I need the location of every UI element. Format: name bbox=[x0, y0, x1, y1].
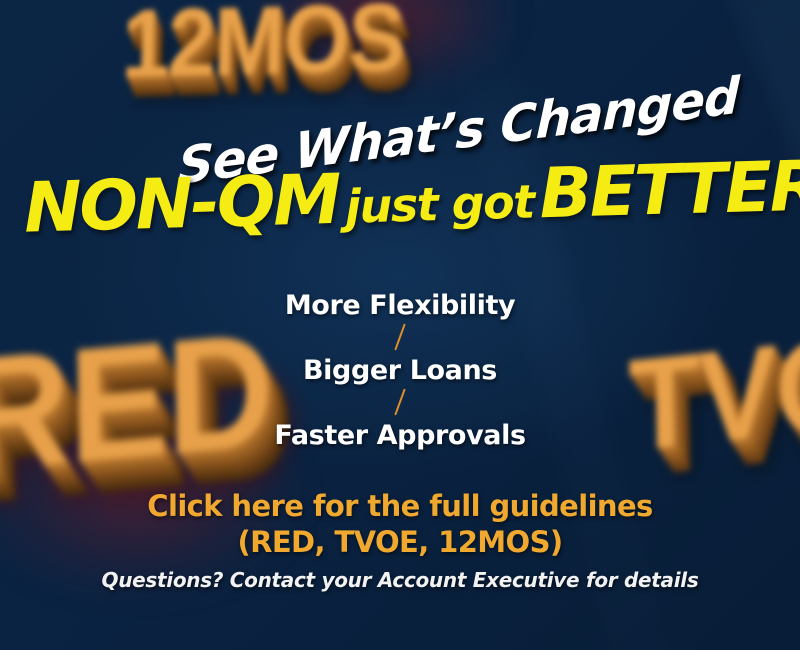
slash-icon bbox=[394, 324, 405, 351]
benefit-separator bbox=[0, 319, 800, 357]
headline-connector: just got bbox=[339, 174, 541, 234]
footnote-text: Questions? Contact your Account Executiv… bbox=[0, 568, 800, 592]
slash-icon bbox=[394, 389, 405, 416]
headline-block: See What’s Changed NON-QMjust gotBETTER bbox=[0, 100, 800, 250]
cta-line-primary[interactable]: Click here for the full guidelines bbox=[0, 488, 800, 524]
benefit-item: Bigger Loans bbox=[0, 357, 800, 384]
benefit-separator bbox=[0, 384, 800, 422]
benefits-list: More Flexibility Bigger Loans Faster App… bbox=[0, 292, 800, 449]
headline-main-line: NON-QMjust gotBETTER bbox=[23, 147, 785, 248]
headline-emphasis-left: NON-QM bbox=[23, 160, 340, 249]
promo-banner: 12MOS RED TVOE See What’s Changed NON-QM… bbox=[0, 0, 800, 650]
cta-line-secondary[interactable]: (RED, TVOE, 12MOS) bbox=[0, 524, 800, 560]
headline-emphasis-right: BETTER bbox=[538, 146, 800, 234]
red-haze-top-decoration bbox=[250, 0, 510, 90]
decorative-word-12mos: 12MOS bbox=[120, 0, 405, 101]
benefit-item: Faster Approvals bbox=[0, 422, 800, 449]
benefit-item: More Flexibility bbox=[0, 292, 800, 319]
cta-link[interactable]: Click here for the full guidelines (RED,… bbox=[0, 488, 800, 561]
